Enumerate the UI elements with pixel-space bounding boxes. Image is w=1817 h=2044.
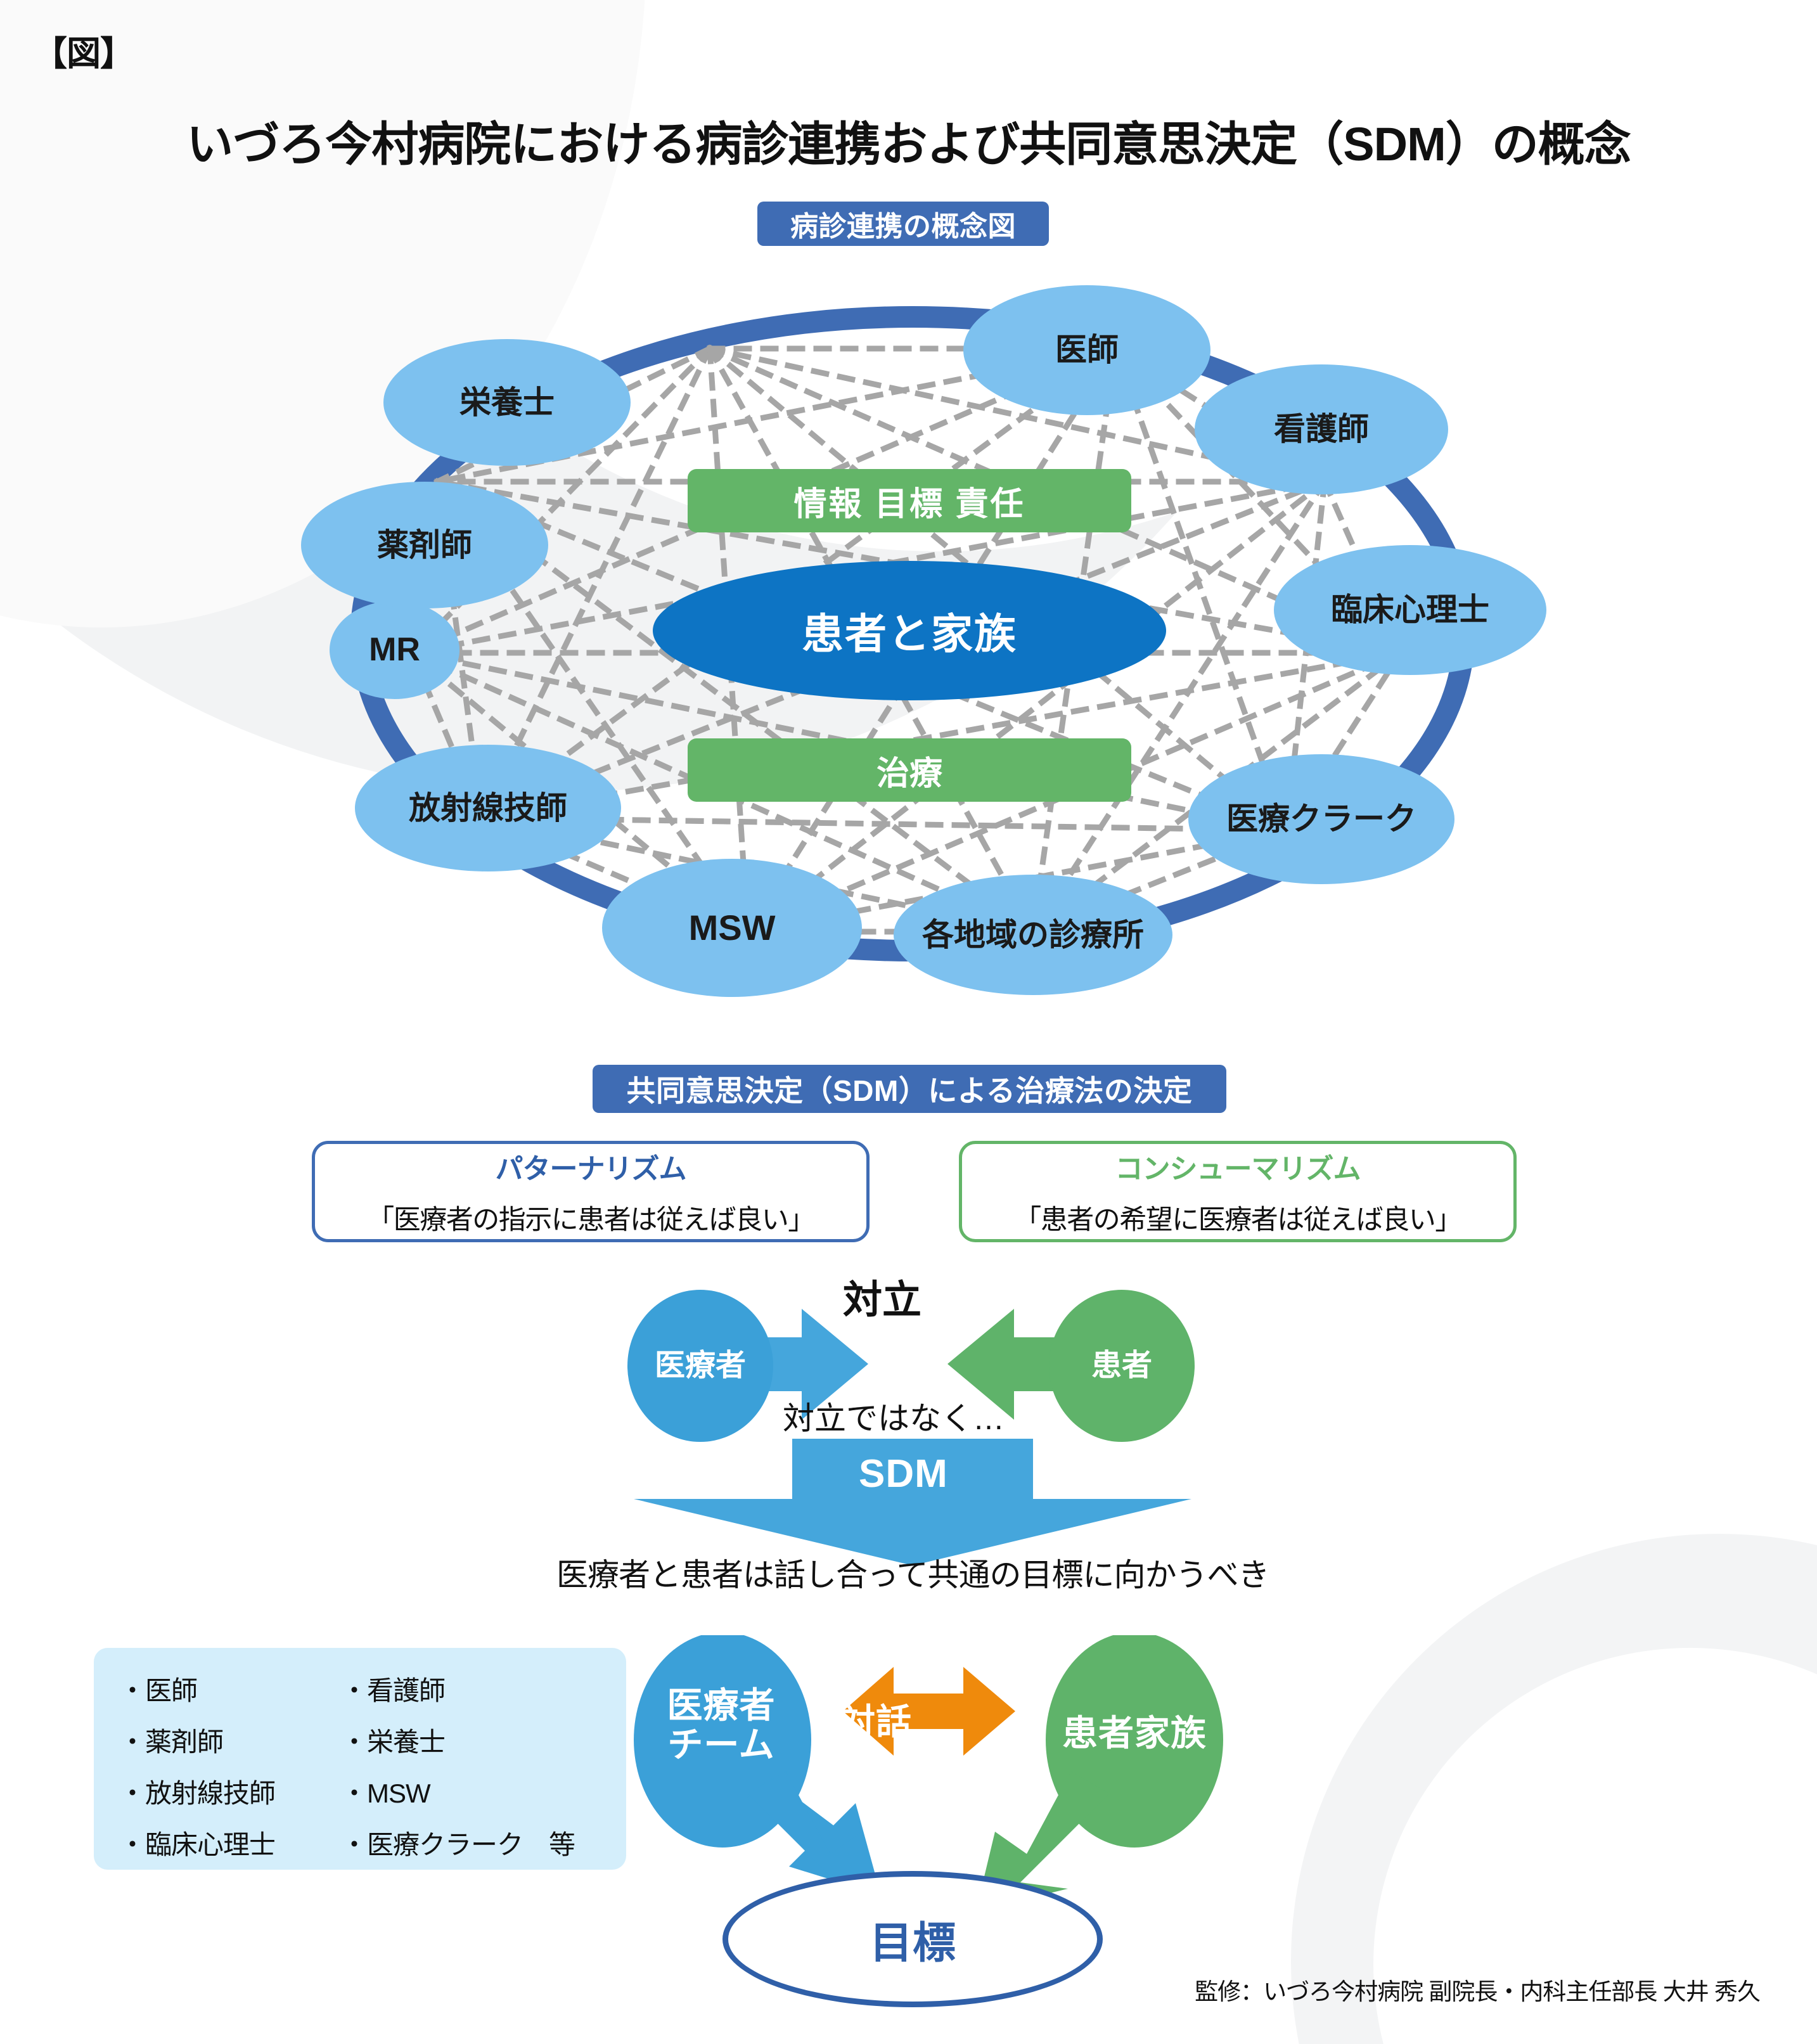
center-oval-label: 患者と家族 <box>802 600 1017 661</box>
conclusion-label: 医療者と患者は話し合って共通の目標に向かうべき <box>556 1557 1269 1593</box>
network-node-mr[interactable]: MR <box>330 601 459 699</box>
network-node-radiologic-technologist[interactable]: 放射線技師 <box>355 745 621 871</box>
concept-quote-paternalism: 「医療者の指示に患者は従えば良い」 <box>367 1198 814 1237</box>
green-bar-treatment: 治療 <box>688 738 1131 802</box>
node-label: 看護師 <box>1274 413 1369 446</box>
node-label: 各地域の診療所 <box>922 918 1144 952</box>
team-oval-label: 医療者 チーム <box>642 1686 800 1764</box>
node-label: 医師 <box>1055 333 1119 367</box>
network-node-doctor[interactable]: 医師 <box>963 285 1210 415</box>
network-node-msw[interactable]: MSW <box>602 859 862 997</box>
oval-healthcare-provider[interactable]: 医療者 <box>627 1290 773 1442</box>
family-oval-label: 患者家族 <box>1055 1705 1214 1756</box>
family-text: 患者家族 <box>1062 1713 1207 1753</box>
network-node-medical-clerk[interactable]: 医療クラーク <box>1188 754 1454 884</box>
goal-oval[interactable]: 目標 <box>722 1871 1103 2007</box>
green-bar-label: 情報 目標 責任 <box>794 477 1025 525</box>
node-label: 医療クラーク <box>1226 802 1416 836</box>
dialogue-text: 対話 <box>840 1702 912 1742</box>
goal-label: 目標 <box>870 1908 956 1970</box>
network-diagram: 医師 看護師 臨床心理士 医療クラーク 各地域の診療所 MSW 放射線技師 MR… <box>209 273 1616 1014</box>
section-badge-sdm: 共同意思決定（SDM）による治療法の決定 <box>593 1065 1226 1113</box>
figure-root: 【図】 いづろ今村病院における病診連携および共同意思決定（SDM）の概念 病診連… <box>0 0 1817 2044</box>
network-node-local-clinics[interactable]: 各地域の診療所 <box>894 875 1172 995</box>
figure-marker: 【図】 <box>33 25 134 75</box>
sdm-text: SDM <box>859 1452 948 1496</box>
concept-quote-consumerism: 「患者の希望に医療者は従えば良い」 <box>1014 1198 1461 1237</box>
team-label-line1: 医療者 <box>667 1685 776 1725</box>
transition-text: 対立ではなく… <box>783 1393 1005 1439</box>
oval-patient[interactable]: 患者 <box>1049 1290 1195 1442</box>
concept-box-paternalism: パターナリズム 「医療者の指示に患者は従えば良い」 <box>312 1141 870 1242</box>
concept-box-consumerism: コンシューマリズム 「患者の希望に医療者は従えば良い」 <box>959 1141 1517 1242</box>
green-bar-label: 治療 <box>876 747 942 794</box>
concept-title-consumerism: コンシューマリズム <box>1115 1146 1361 1186</box>
roster-item: ・薬剤師 <box>119 1721 341 1759</box>
roster-item: ・臨床心理士 <box>119 1823 341 1862</box>
node-label: MSW <box>689 910 776 947</box>
roster-item: ・栄養士 <box>341 1721 601 1759</box>
sdm-arrow-label: SDM <box>859 1451 948 1496</box>
roster-item: ・看護師 <box>341 1669 601 1708</box>
roster-item: ・医師 <box>119 1669 341 1708</box>
oval-label: 医療者 <box>655 1349 746 1382</box>
team-roster-panel: ・医師 ・看護師 ・薬剤師 ・栄養士 ・放射線技師 ・MSW ・臨床心理士 ・医… <box>94 1648 626 1870</box>
network-node-dietitian[interactable]: 栄養士 <box>383 339 631 466</box>
node-label: 臨床心理士 <box>1331 593 1489 627</box>
conclusion-text: 医療者と患者は話し合って共通の目標に向かうべき <box>556 1550 1269 1595</box>
oval-label: 患者 <box>1091 1349 1152 1382</box>
node-label: MR <box>369 633 420 667</box>
node-label: 放射線技師 <box>409 792 567 825</box>
roster-item: ・医療クラーク 等 <box>341 1823 601 1862</box>
network-node-clinical-psychologist[interactable]: 臨床心理士 <box>1274 545 1546 675</box>
transition-label: 対立ではなく… <box>783 1401 1005 1436</box>
roster-item: ・MSW <box>341 1772 601 1811</box>
green-bar-info-goal-responsibility: 情報 目標 責任 <box>688 469 1131 532</box>
roster-item: ・放射線技師 <box>119 1772 341 1811</box>
supervisor-credit: 監修：いづろ今村病院 副院長・内科主任部長 大井 秀久 <box>1195 1972 1760 2007</box>
family-green-group <box>976 1635 1223 1911</box>
team-label-line2: チーム <box>667 1725 774 1764</box>
network-node-pharmacist[interactable]: 薬剤師 <box>301 482 548 608</box>
center-oval-patient-family[interactable]: 患者と家族 <box>653 561 1166 700</box>
node-label: 薬剤師 <box>377 529 472 562</box>
section-badge-network: 病診連携の概念図 <box>757 202 1049 246</box>
node-label: 栄養士 <box>459 386 555 420</box>
network-node-nurse[interactable]: 看護師 <box>1195 364 1448 494</box>
swoosh-shape-d <box>1291 1534 1817 2044</box>
page-title: いづろ今村病院における病診連携および共同意思決定（SDM）の概念 <box>0 106 1817 174</box>
team-blue-group <box>634 1635 881 1911</box>
dialogue-arrow-label: 対話 <box>840 1694 912 1745</box>
concept-title-paternalism: パターナリズム <box>496 1146 686 1186</box>
